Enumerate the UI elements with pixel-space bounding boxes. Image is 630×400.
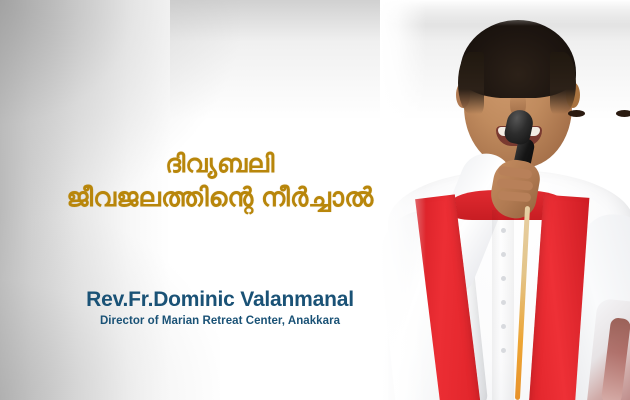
speaker-name: Rev.Fr.Dominic Valanmanal (0, 288, 440, 311)
photo-top-edge-fade (380, 0, 630, 26)
speaker-credit-block: Rev.Fr.Dominic Valanmanal Director of Ma… (0, 288, 440, 327)
title-line-2: ജീവജലത്തിന്റെ നീർച്ചാൽ (0, 182, 440, 213)
photo-left-eye (568, 110, 585, 117)
speaker-photo (380, 0, 630, 400)
photo-alb-button (501, 276, 506, 281)
title-block: ദിവ്യബലി ജീവജലത്തിന്റെ നീർച്ചാൽ (0, 150, 440, 212)
photo-alb-placket (492, 210, 514, 400)
photo-alb-button (501, 228, 506, 233)
poster-canvas: ദിവ്യബലി ജീവജലത്തിന്റെ നീർച്ചാൽ Rev.Fr.D… (0, 0, 630, 400)
photo-alb-button (501, 252, 506, 257)
photo-alb-button (501, 300, 506, 305)
photo-right-eye (616, 110, 630, 117)
title-line-1: ദിവ്യബലി (0, 150, 440, 180)
photo-hair-left-side (458, 52, 484, 114)
photo-left-edge-fade (380, 0, 426, 400)
photo-hair-right-side (550, 52, 576, 114)
speaker-role: Director of Marian Retreat Center, Anakk… (0, 315, 440, 327)
photo-alb-button (501, 324, 506, 329)
photo-alb-button (501, 348, 506, 353)
